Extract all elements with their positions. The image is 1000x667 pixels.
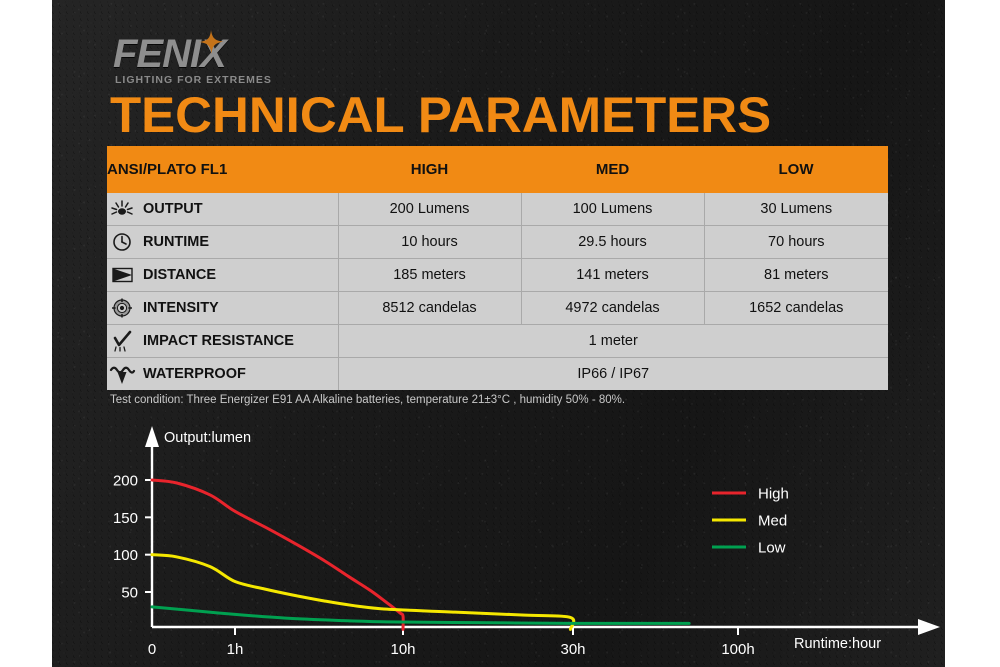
- table-header-row: ANSI/PLATO FL1 HIGH MED LOW: [107, 146, 888, 193]
- legend-label-med: Med: [758, 513, 787, 530]
- y-tick-label: 150: [113, 510, 138, 527]
- row-value-med: 4972 candelas: [521, 292, 704, 325]
- row-value-low: 70 hours: [704, 226, 888, 259]
- specifications-table: ANSI/PLATO FL1 HIGH MED LOW OUTPUT200 Lu…: [107, 146, 888, 390]
- row-value-all: IP66 / IP67: [338, 358, 888, 391]
- brand-tagline: LIGHTING FOR EXTREMES: [113, 74, 303, 87]
- row-value-low: 1652 candelas: [704, 292, 888, 325]
- table-row: WATERPROOFIP66 / IP67: [107, 358, 888, 391]
- row-label-runtime: RUNTIME: [107, 226, 338, 259]
- x-tick-label: 10h: [390, 641, 415, 658]
- chart-series: [152, 480, 689, 629]
- row-label-output: OUTPUT: [107, 193, 338, 226]
- row-label-waterproof: WATERPROOF: [107, 358, 338, 391]
- row-value-low: 30 Lumens: [704, 193, 888, 226]
- sunburst-icon: [107, 198, 137, 220]
- row-value-high: 10 hours: [338, 226, 521, 259]
- y-axis-title: Output:lumen: [164, 430, 251, 446]
- table-row: IMPACT RESISTANCE1 meter: [107, 325, 888, 358]
- y-tick-label: 200: [113, 473, 138, 490]
- y-tick-label: 50: [121, 585, 138, 602]
- fenix-logo: FENIX LIGHTING FOR EXTREMES: [113, 34, 303, 86]
- x-axis-title: Runtime:hour: [794, 636, 881, 652]
- impact-icon: [107, 330, 137, 352]
- legend-label-high: High: [758, 486, 789, 503]
- chart-legend: HighMedLow: [712, 486, 789, 557]
- header-column-low: LOW: [704, 146, 888, 193]
- row-label-impact-resistance: IMPACT RESISTANCE: [107, 325, 338, 358]
- legend-label-low: Low: [758, 540, 786, 557]
- table-row: OUTPUT200 Lumens100 Lumens30 Lumens: [107, 193, 888, 226]
- row-value-all: 1 meter: [338, 325, 888, 358]
- chart-axes: [145, 426, 940, 635]
- row-label-text: WATERPROOF: [143, 366, 246, 382]
- row-value-high: 8512 candelas: [338, 292, 521, 325]
- star-icon: [197, 30, 225, 58]
- x-axis-ticks: 01h10h30h100h: [148, 627, 755, 658]
- row-value-med: 29.5 hours: [521, 226, 704, 259]
- x-tick-label: 100h: [721, 641, 754, 658]
- row-label-text: DISTANCE: [143, 267, 216, 283]
- technical-parameters-page: FENIX LIGHTING FOR EXTREMES TECHNICAL PA…: [0, 0, 1000, 667]
- y-tick-label: 100: [113, 547, 138, 564]
- row-label-distance: DISTANCE: [107, 259, 338, 292]
- header-column-med: MED: [521, 146, 704, 193]
- series-line-med: [152, 555, 574, 630]
- row-value-high: 200 Lumens: [338, 193, 521, 226]
- page-title: TECHNICAL PARAMETERS: [110, 88, 771, 142]
- test-condition-note: Test condition: Three Energizer E91 AA A…: [110, 394, 625, 406]
- table-row: RUNTIME10 hours29.5 hours70 hours: [107, 226, 888, 259]
- row-value-med: 141 meters: [521, 259, 704, 292]
- row-value-low: 81 meters: [704, 259, 888, 292]
- x-tick-label: 1h: [227, 641, 244, 658]
- table-body: OUTPUT200 Lumens100 Lumens30 LumensRUNTI…: [107, 193, 888, 390]
- beam-icon: [107, 264, 137, 286]
- row-label-text: IMPACT RESISTANCE: [143, 333, 294, 349]
- row-label-text: OUTPUT: [143, 201, 203, 217]
- table-row: DISTANCE185 meters141 meters81 meters: [107, 259, 888, 292]
- clock-icon: [107, 231, 137, 253]
- row-label-text: INTENSITY: [143, 300, 219, 316]
- waterdrop-icon: [107, 363, 137, 385]
- runtime-output-chart: 20015010050 01h10h30h100h Output:lumen R…: [52, 420, 945, 667]
- row-value-med: 100 Lumens: [521, 193, 704, 226]
- table-row: INTENSITY8512 candelas4972 candelas1652 …: [107, 292, 888, 325]
- x-tick-label: 30h: [560, 641, 585, 658]
- crosshair-icon: [107, 297, 137, 319]
- row-label-text: RUNTIME: [143, 234, 209, 250]
- header-standard-label: ANSI/PLATO FL1: [107, 146, 338, 193]
- y-axis-ticks: 20015010050: [113, 473, 152, 602]
- x-tick-label: 0: [148, 641, 156, 658]
- header-column-high: HIGH: [338, 146, 521, 193]
- row-value-high: 185 meters: [338, 259, 521, 292]
- row-label-intensity: INTENSITY: [107, 292, 338, 325]
